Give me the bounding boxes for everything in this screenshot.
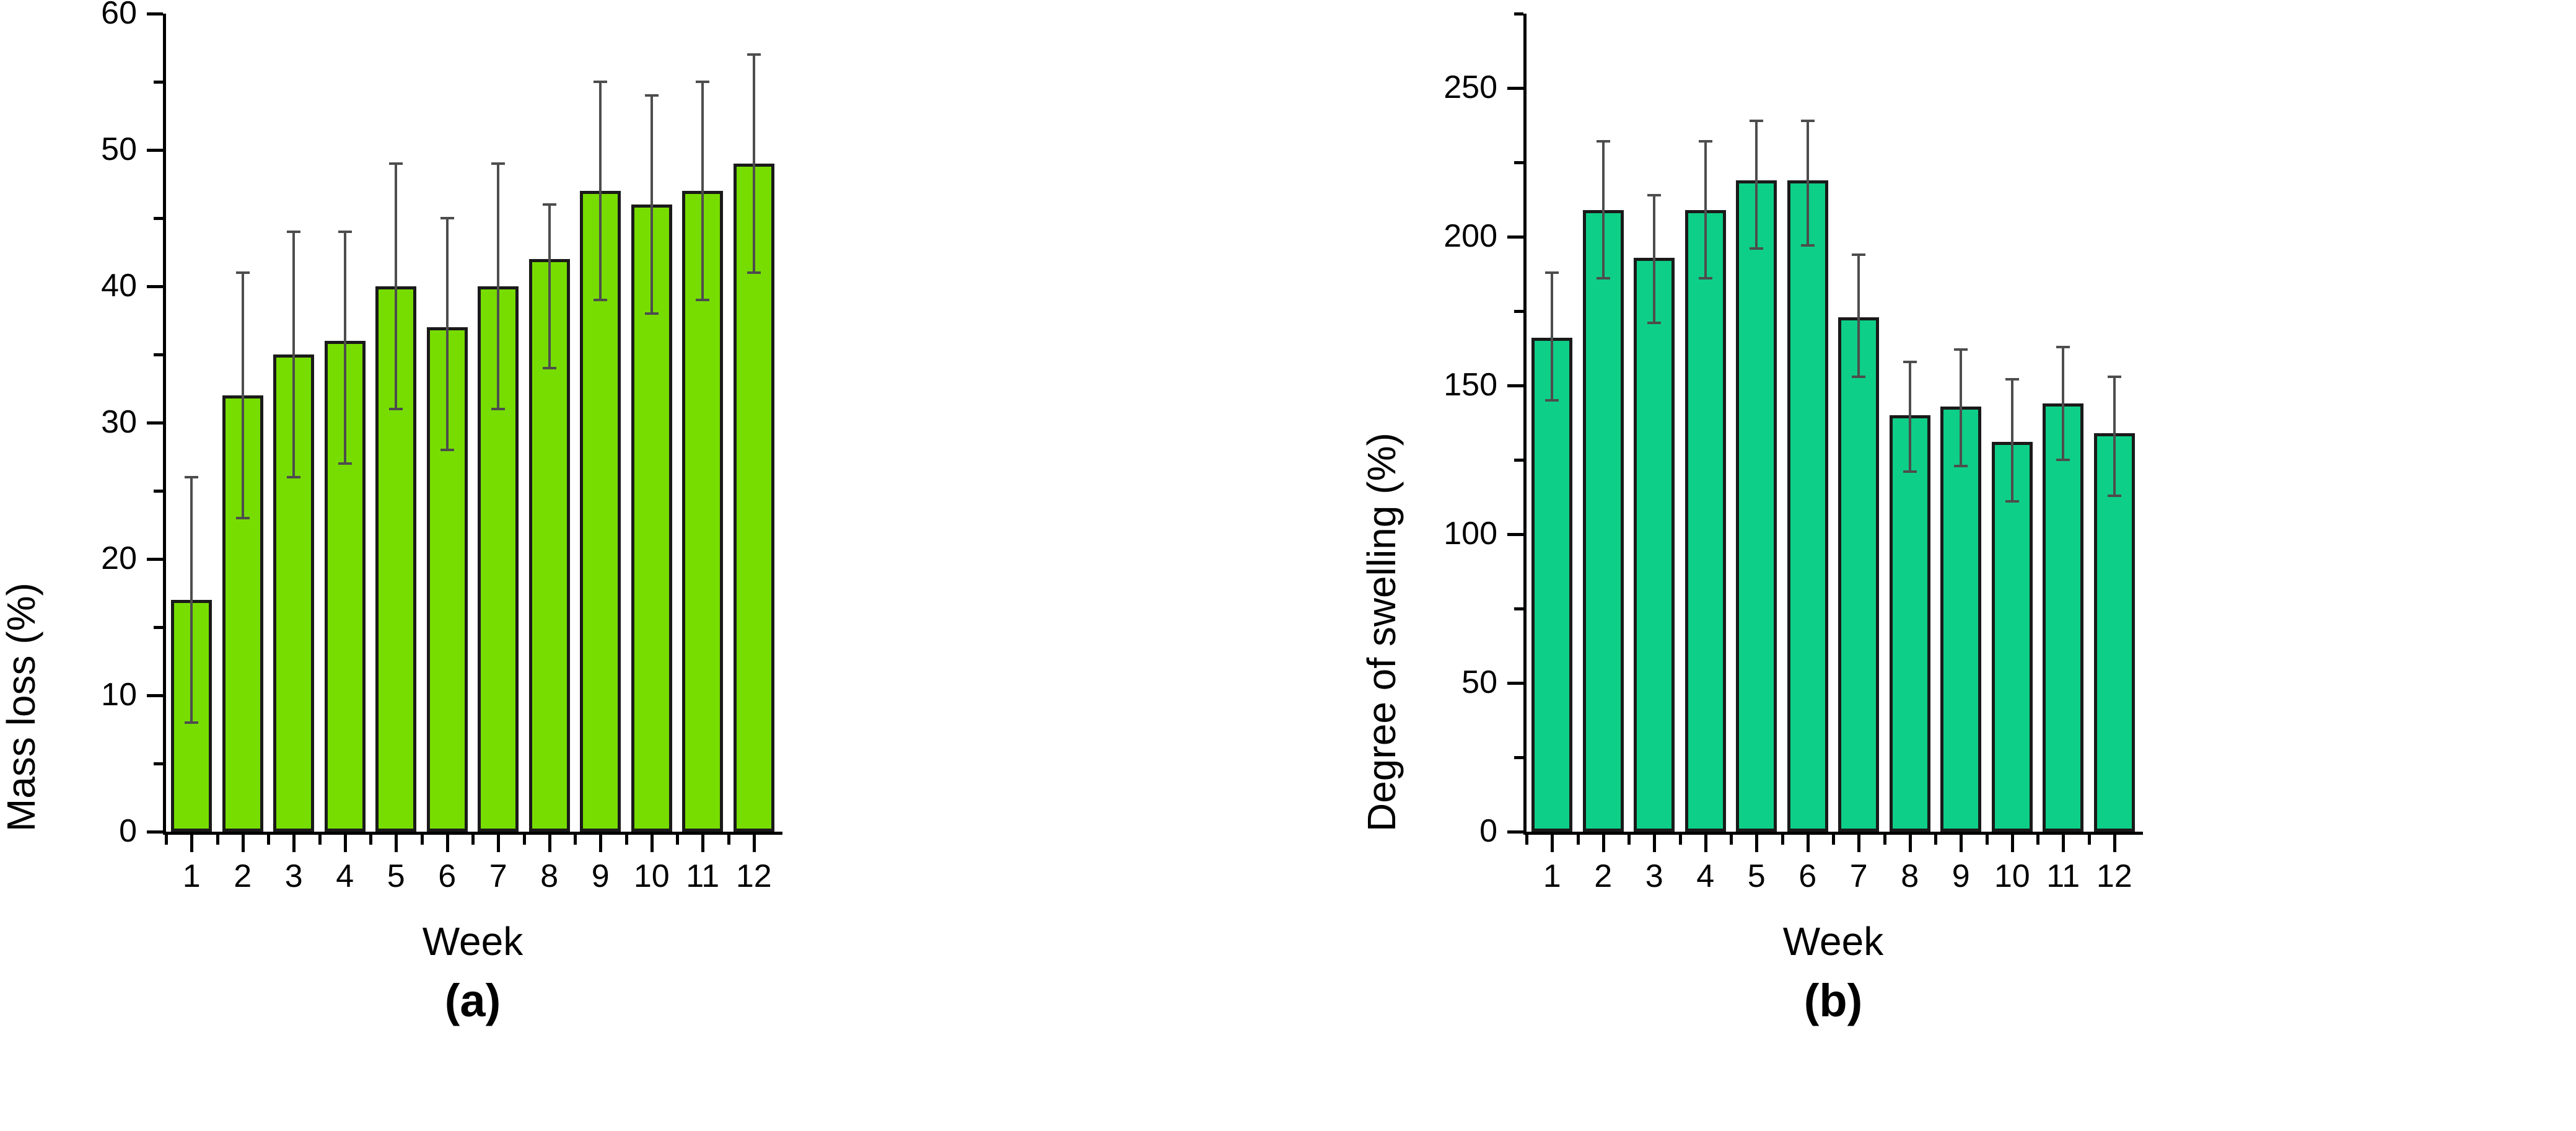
error-bar-cap-lower	[2108, 495, 2121, 497]
y-axis-line	[1523, 14, 1527, 835]
y-tick-label: 50	[13, 133, 137, 165]
x-tick-major	[599, 835, 602, 852]
bar	[1736, 180, 1777, 832]
x-tick-minor	[421, 835, 424, 845]
y-tick-label: 30	[13, 406, 137, 438]
panel-tag-a: (a)	[166, 974, 779, 1027]
error-bar-cap-upper	[185, 476, 198, 478]
error-bar-stem	[1960, 350, 1962, 465]
error-bar-stem	[497, 164, 499, 409]
y-axis-line	[163, 14, 166, 835]
error-bar-stem	[446, 218, 449, 450]
error-bar-cap-upper	[1699, 140, 1712, 143]
x-tick-major	[242, 835, 245, 852]
error-bar-stem	[1909, 362, 1911, 472]
error-bar-cap-lower	[1597, 277, 1610, 279]
y-tick-major	[147, 558, 163, 561]
error-bar-cap-lower	[747, 271, 761, 274]
error-bar-cap-lower	[389, 408, 403, 410]
error-bar-cap-lower	[2056, 459, 2070, 461]
error-bar-cap-upper	[747, 53, 761, 56]
error-bar-cap-upper	[696, 81, 709, 83]
error-bar-stem	[701, 82, 704, 300]
x-tick-minor	[216, 835, 219, 845]
y-tick-label: 10	[13, 679, 137, 711]
y-tick-minor	[154, 762, 163, 765]
y-tick-minor	[1514, 161, 1523, 164]
x-tick-major	[2011, 835, 2014, 852]
y-tick-label: 250	[1373, 71, 1497, 103]
y-tick-major	[147, 830, 163, 834]
error-bar-cap-lower	[2005, 500, 2019, 503]
bar	[1838, 317, 1879, 832]
x-tick-minor	[1577, 835, 1580, 845]
error-bar-stem	[292, 232, 295, 477]
panel-tag-b: (b)	[1527, 974, 2140, 1027]
x-tick-minor	[1628, 835, 1631, 845]
error-bar-cap-upper	[1903, 361, 1917, 363]
error-bar-cap-lower	[185, 721, 198, 724]
error-bar-cap-upper	[491, 162, 505, 165]
y-axis-label-b: Degree of swelling (%)	[1359, 433, 1404, 832]
error-bar-cap-lower	[594, 299, 607, 301]
bar	[1634, 258, 1675, 832]
bar	[1685, 210, 1726, 832]
error-bar-cap-lower	[1903, 470, 1917, 473]
y-tick-label: 100	[1373, 517, 1497, 550]
error-bar-cap-lower	[236, 517, 250, 519]
error-bar-stem	[548, 205, 551, 368]
x-tick-minor	[267, 835, 270, 845]
y-tick-major	[147, 12, 163, 15]
y-tick-major	[147, 694, 163, 697]
error-bar-stem	[1551, 273, 1553, 400]
y-tick-minor	[1514, 459, 1523, 462]
figure-two-panel-bar-charts: Mass loss (%) Week (a) 01020304050601234…	[0, 0, 2576, 1131]
x-tick-major	[701, 835, 704, 852]
x-tick-major	[497, 835, 500, 852]
error-bar-cap-upper	[1852, 253, 1865, 256]
y-tick-major	[147, 421, 163, 425]
error-bar-stem	[395, 164, 397, 409]
x-tick-major	[446, 835, 449, 852]
x-tick-minor	[2088, 835, 2091, 845]
error-bar-cap-lower	[543, 367, 556, 369]
error-bar-stem	[1704, 141, 1707, 278]
x-tick-major	[292, 835, 296, 852]
x-tick-minor	[1934, 835, 1937, 845]
x-tick-minor	[625, 835, 628, 845]
x-tick-label: 12	[2052, 860, 2176, 892]
panel-b-degree-of-swelling: Degree of swelling (%) Week (b) 05010015…	[1288, 0, 2576, 1131]
y-tick-label: 60	[13, 0, 137, 29]
error-bar-cap-lower	[440, 449, 454, 451]
error-bar-stem	[190, 477, 193, 723]
error-bar-cap-upper	[1801, 120, 1815, 122]
error-bar-stem	[753, 55, 755, 273]
error-bar-cap-upper	[440, 217, 454, 219]
error-bar-cap-upper	[543, 203, 556, 206]
y-tick-label: 0	[1373, 815, 1497, 847]
x-tick-major	[753, 835, 756, 852]
error-bar-cap-lower	[645, 312, 659, 315]
error-bar-cap-lower	[696, 299, 709, 301]
y-tick-minor	[154, 490, 163, 493]
x-tick-major	[1551, 835, 1554, 852]
y-tick-label: 40	[13, 270, 137, 302]
error-bar-stem	[2113, 377, 2116, 496]
x-tick-minor	[1781, 835, 1784, 845]
x-tick-minor	[1883, 835, 1886, 845]
y-tick-label: 150	[1373, 369, 1497, 401]
x-tick-minor	[1525, 835, 1528, 845]
y-tick-major	[1507, 830, 1523, 834]
error-bar-cap-lower	[1647, 322, 1661, 324]
error-bar-cap-upper	[1597, 140, 1610, 143]
x-tick-major	[1807, 835, 1810, 852]
y-tick-label: 50	[1373, 666, 1497, 698]
x-tick-minor	[471, 835, 475, 845]
x-tick-minor	[2036, 835, 2039, 845]
x-tick-minor	[523, 835, 526, 845]
y-tick-major	[147, 149, 163, 152]
y-tick-minor	[154, 626, 163, 629]
error-bar-stem	[1807, 121, 1809, 246]
error-bar-cap-upper	[645, 94, 659, 97]
x-tick-minor	[1679, 835, 1682, 845]
error-bar-cap-upper	[287, 231, 300, 233]
x-tick-major	[1857, 835, 1860, 852]
x-tick-minor	[1986, 835, 1989, 845]
x-tick-minor	[676, 835, 679, 845]
x-tick-label: 12	[692, 860, 816, 892]
error-bar-cap-lower	[1545, 399, 1559, 402]
error-bar-stem	[1755, 121, 1758, 249]
y-tick-major	[1507, 533, 1523, 536]
bar	[1940, 407, 1981, 832]
error-bar-cap-upper	[2108, 376, 2121, 378]
x-tick-minor	[574, 835, 577, 845]
error-bar-cap-lower	[491, 408, 505, 410]
x-tick-major	[395, 835, 398, 852]
y-tick-minor	[1514, 756, 1523, 759]
y-tick-minor	[1514, 310, 1523, 313]
x-tick-major	[344, 835, 347, 852]
x-tick-major	[1960, 835, 1963, 852]
y-tick-minor	[154, 353, 163, 356]
x-tick-minor	[318, 835, 322, 845]
error-bar-stem	[344, 232, 346, 464]
x-tick-major	[651, 835, 654, 852]
x-axis-label-a: Week	[166, 918, 779, 964]
bar	[1583, 210, 1624, 832]
error-bar-stem	[2062, 347, 2064, 460]
panel-a-mass-loss: Mass loss (%) Week (a) 01020304050601234…	[0, 0, 1288, 1131]
error-bar-cap-lower	[1852, 376, 1865, 378]
error-bar-cap-upper	[2005, 378, 2019, 381]
bar	[1787, 180, 1828, 832]
error-bar-cap-lower	[287, 476, 300, 478]
x-tick-major	[548, 835, 551, 852]
x-tick-major	[1909, 835, 1912, 852]
error-bar-stem	[1857, 255, 1860, 377]
error-bar-cap-upper	[1750, 120, 1763, 122]
error-bar-cap-upper	[1647, 194, 1661, 196]
error-bar-cap-lower	[1954, 465, 1968, 467]
error-bar-cap-upper	[1545, 271, 1559, 274]
x-tick-minor	[369, 835, 372, 845]
error-bar-stem	[1602, 141, 1605, 278]
y-tick-label: 200	[1373, 220, 1497, 252]
y-tick-minor	[1514, 12, 1523, 15]
x-tick-minor	[165, 835, 168, 845]
error-bar-stem	[242, 273, 244, 518]
error-bar-cap-lower	[1801, 244, 1815, 247]
y-tick-label: 0	[13, 815, 137, 847]
error-bar-stem	[2011, 379, 2013, 501]
error-bar-cap-upper	[594, 81, 607, 83]
error-bar-cap-upper	[338, 231, 352, 233]
x-tick-major	[2062, 835, 2065, 852]
x-tick-major	[190, 835, 193, 852]
x-axis-label-b: Week	[1527, 918, 2140, 964]
x-tick-minor	[727, 835, 730, 845]
y-tick-minor	[154, 81, 163, 84]
x-tick-minor	[1832, 835, 1835, 845]
x-tick-major	[1653, 835, 1656, 852]
y-tick-major	[1507, 87, 1523, 90]
error-bar-cap-upper	[1954, 348, 1968, 351]
error-bar-cap-upper	[2056, 346, 2070, 348]
x-tick-major	[2113, 835, 2116, 852]
y-tick-label: 20	[13, 542, 137, 574]
y-tick-major	[147, 285, 163, 288]
x-tick-minor	[1730, 835, 1733, 845]
error-bar-cap-lower	[1699, 277, 1712, 279]
y-tick-major	[1507, 235, 1523, 239]
x-tick-major	[1704, 835, 1707, 852]
error-bar-cap-lower	[338, 462, 352, 465]
error-bar-cap-upper	[236, 271, 250, 274]
y-tick-minor	[154, 217, 163, 220]
y-tick-major	[1507, 682, 1523, 685]
y-tick-minor	[1514, 607, 1523, 610]
bar	[2043, 403, 2083, 832]
x-tick-major	[1602, 835, 1605, 852]
error-bar-stem	[1653, 195, 1655, 323]
bar	[1531, 338, 1572, 832]
error-bar-cap-lower	[1750, 247, 1763, 250]
error-bar-stem	[651, 95, 653, 314]
y-tick-major	[1507, 384, 1523, 387]
error-bar-stem	[599, 82, 602, 300]
bar	[1890, 415, 1930, 832]
error-bar-cap-upper	[389, 162, 403, 165]
x-tick-major	[1755, 835, 1758, 852]
